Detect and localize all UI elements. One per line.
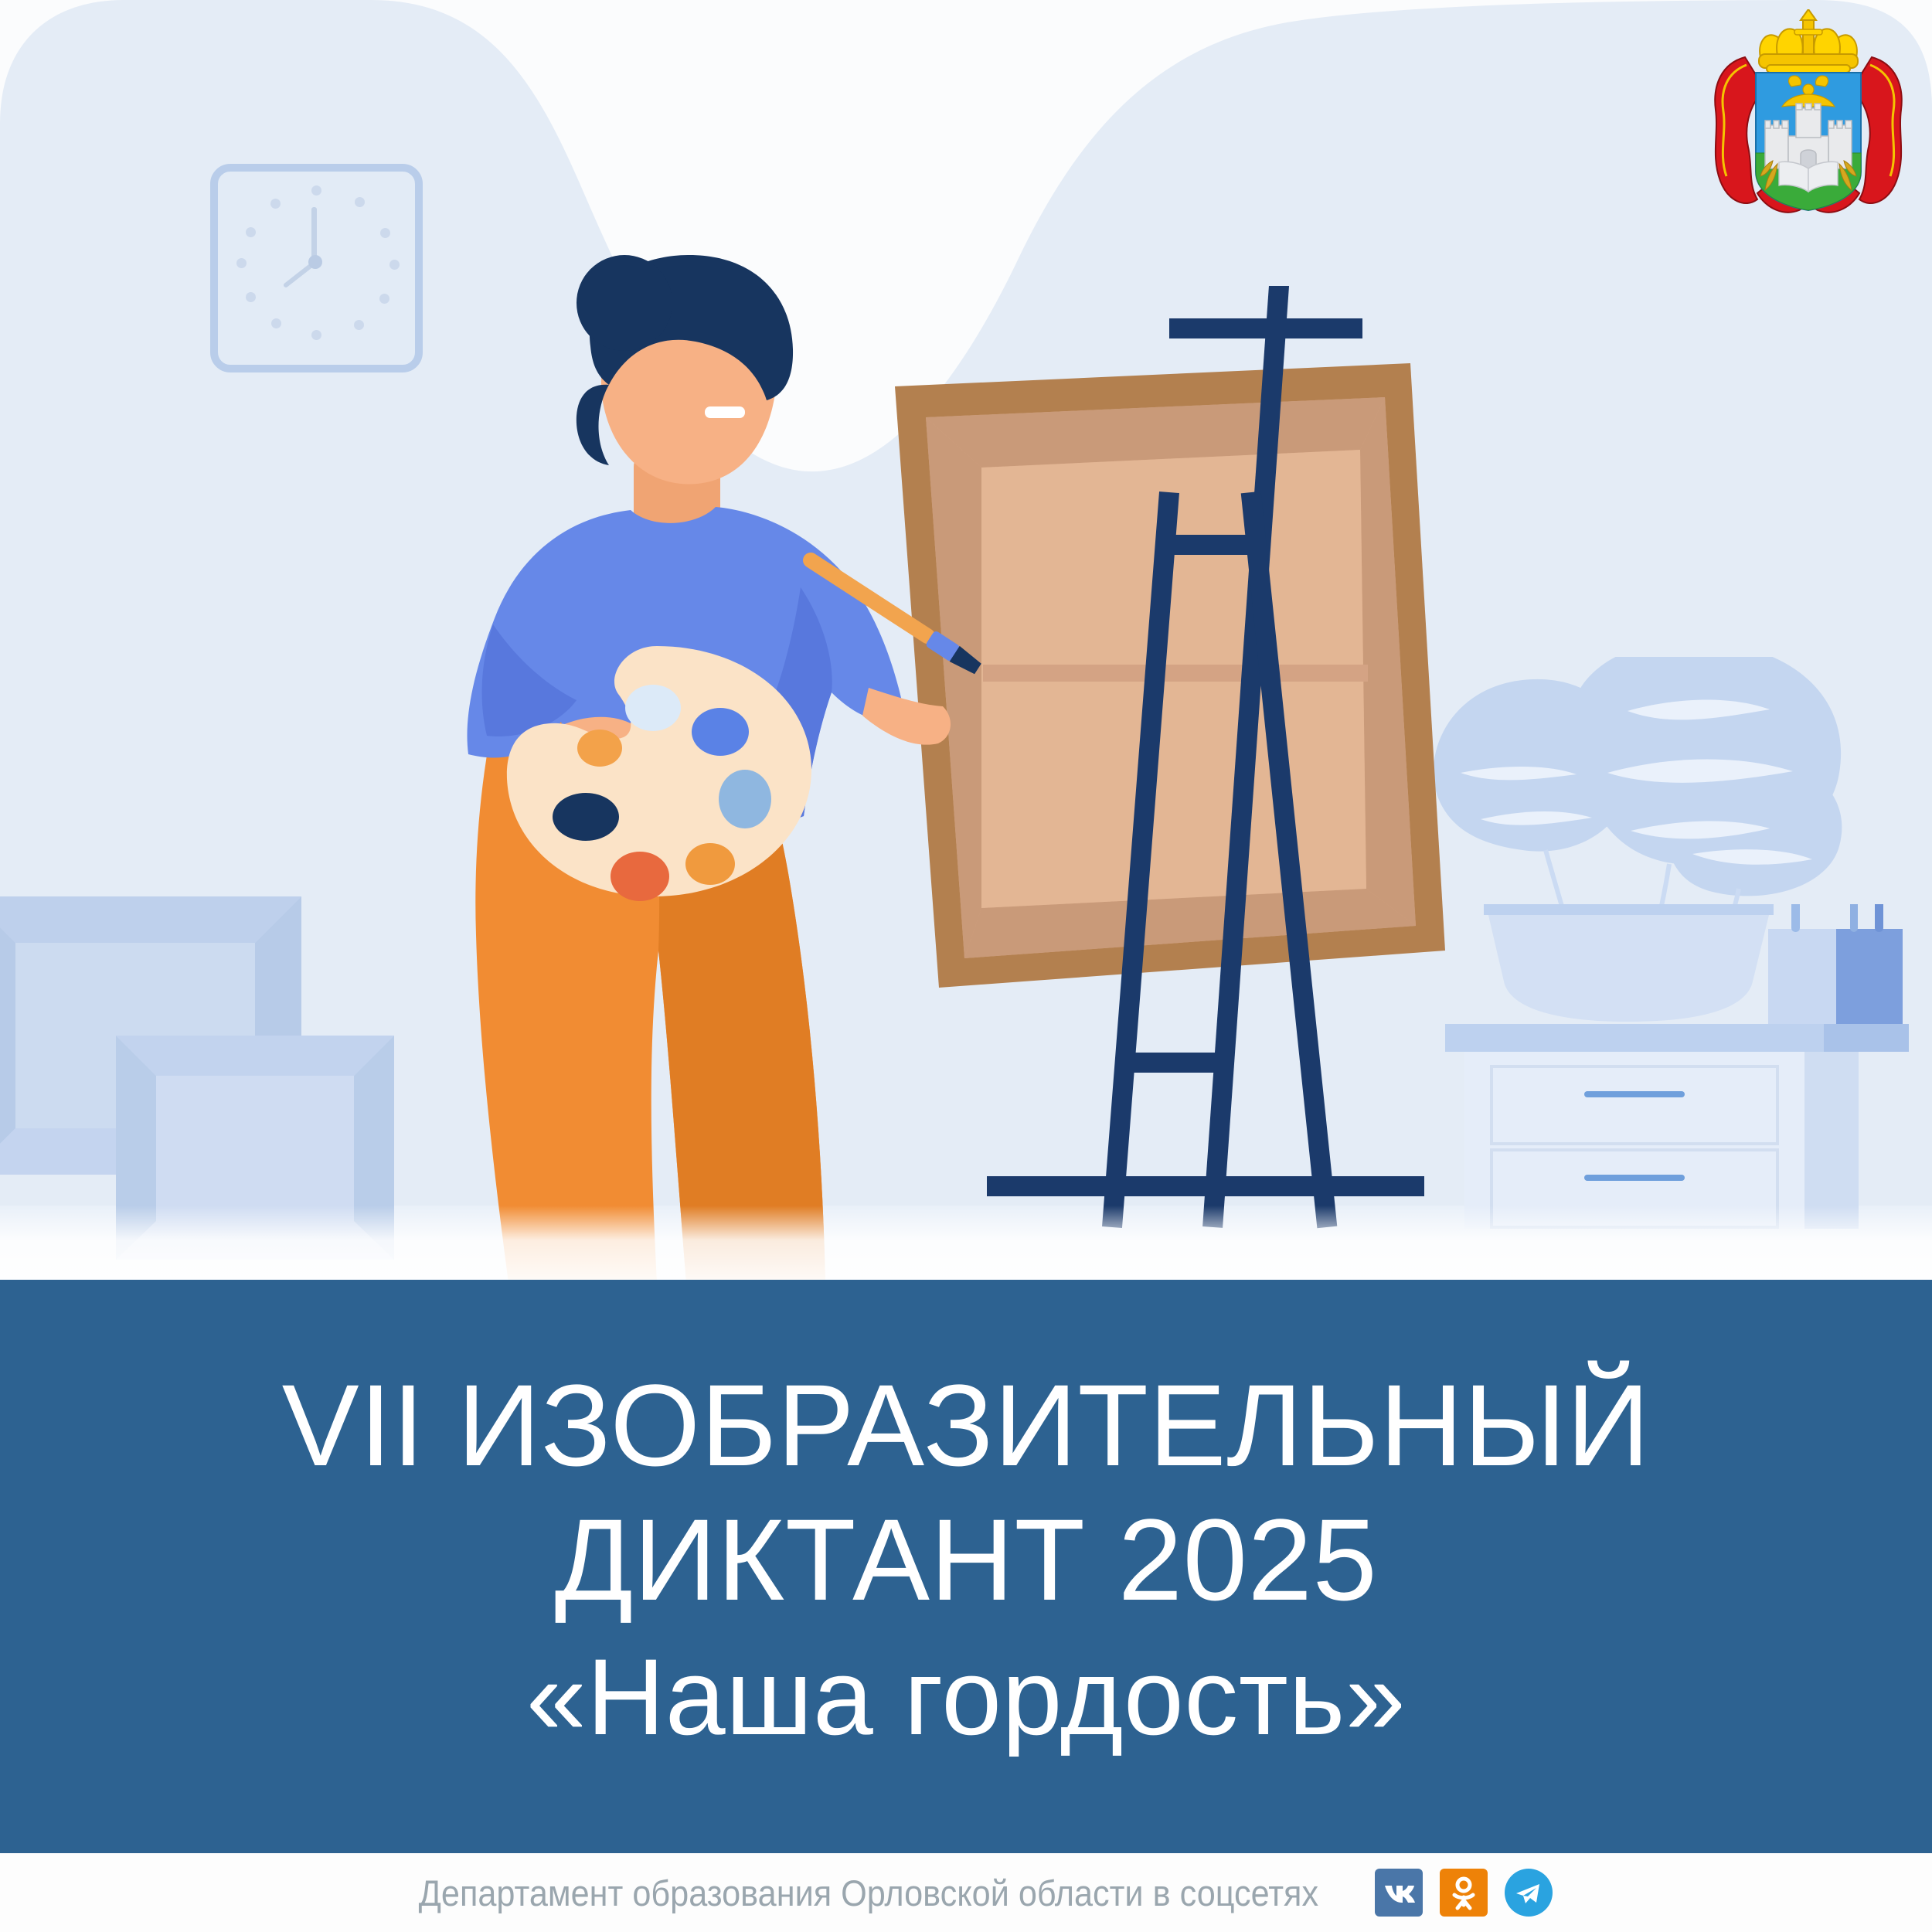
poster-root: VII ИЗОБРАЗИТЕЛЬНЫЙ ДИКТАНТ 2025 «Наша г… bbox=[0, 0, 1932, 1932]
illustration-scene bbox=[0, 0, 1932, 1314]
footer-text: Департамент образования Орловской област… bbox=[419, 1872, 1318, 1914]
vk-icon[interactable] bbox=[1375, 1869, 1423, 1917]
wall-clock bbox=[210, 164, 423, 372]
paint-dot-orange bbox=[685, 843, 735, 885]
paint-dot-blue bbox=[692, 708, 749, 756]
paint-dot-steelblue bbox=[719, 770, 771, 828]
paint-dot-coral bbox=[611, 852, 669, 901]
title-line-1: VII ИЗОБРАЗИТЕЛЬНЫЙ bbox=[282, 1358, 1651, 1492]
title-line-3: «Наша гордость» bbox=[526, 1634, 1406, 1760]
footer-bar: Департамент образования Орловской област… bbox=[0, 1853, 1932, 1932]
paint-dot-navy bbox=[553, 793, 619, 841]
title-line-2: ДИКТАНТ 2025 bbox=[555, 1492, 1378, 1627]
floor-highlight bbox=[0, 1206, 1932, 1283]
ok-icon[interactable] bbox=[1440, 1869, 1488, 1917]
easel bbox=[951, 286, 1522, 1236]
telegram-icon[interactable] bbox=[1505, 1869, 1553, 1917]
paint-dot-lightblue bbox=[625, 685, 681, 731]
title-banner: VII ИЗОБРАЗИТЕЛЬНЫЙ ДИКТАНТ 2025 «Наша г… bbox=[0, 1280, 1932, 1853]
paint-dot-amber bbox=[577, 730, 622, 767]
coat-of-arms-icon bbox=[1700, 9, 1917, 233]
paint-palette bbox=[495, 641, 819, 920]
